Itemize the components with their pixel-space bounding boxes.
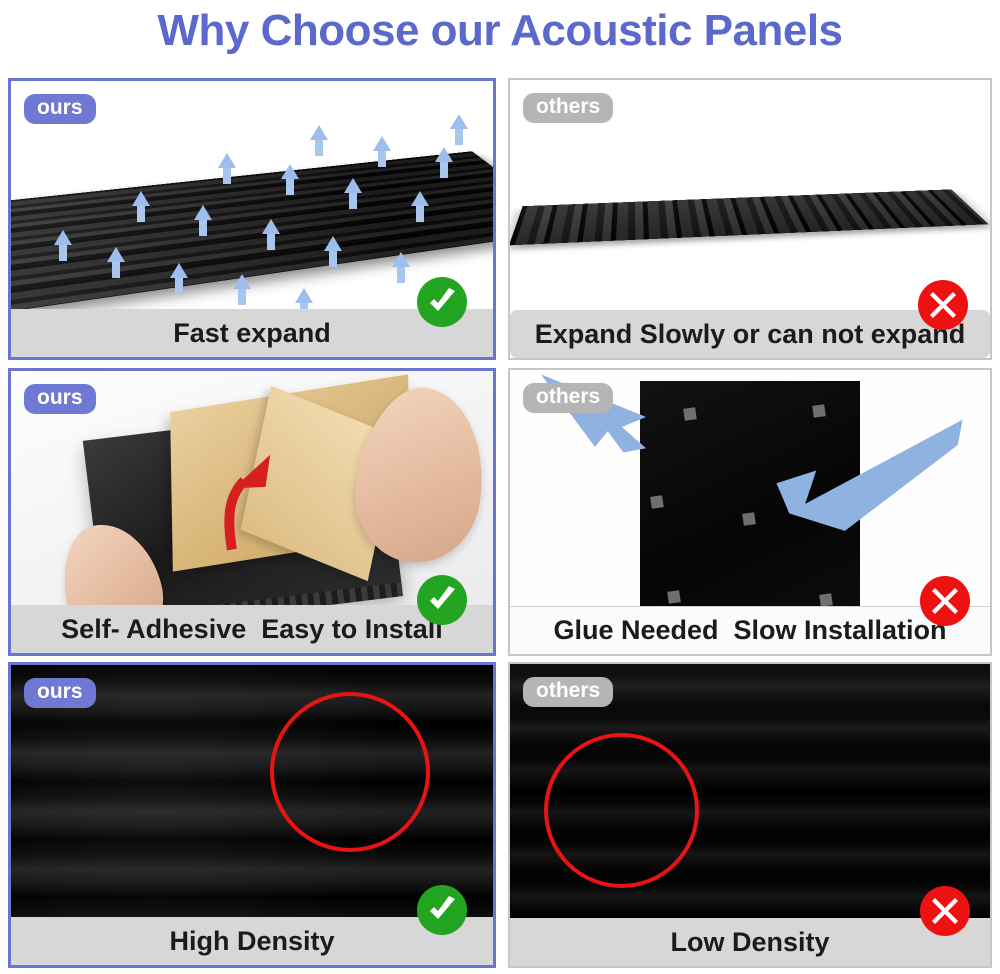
up-arrow-icon — [310, 125, 328, 140]
ours-panel-density: ours High Density — [8, 662, 496, 968]
up-arrow-icon — [281, 164, 299, 179]
caption-glue-needed: Glue Needed Slow Installation — [510, 606, 990, 654]
check-circle-icon — [417, 575, 467, 625]
comparison-grid: ours Fast expand others Expand Slowly or… — [0, 62, 1000, 974]
glue-pointer-arrow-icon — [736, 418, 986, 537]
glue-dab — [668, 590, 682, 604]
comparison-cell-installation-ours: ours Self- Adhesive Easy to Install — [0, 366, 500, 660]
caption-low-density: Low Density — [510, 918, 990, 966]
badge-ours: ours — [24, 384, 96, 414]
up-arrow-icon — [344, 178, 362, 193]
badge-others: others — [523, 677, 613, 707]
up-arrow-icon — [435, 147, 453, 162]
badge-ours: ours — [24, 678, 96, 708]
up-arrow-icon — [107, 247, 125, 262]
check-circle-icon — [417, 277, 467, 327]
page-title: Why Choose our Acoustic Panels — [0, 0, 1000, 62]
up-arrow-icon — [194, 205, 212, 220]
comparison-cell-density-others: others Low Density — [500, 660, 1000, 974]
up-arrow-icon — [170, 263, 188, 278]
up-arrow-icon — [218, 153, 236, 168]
glue-dab — [650, 495, 664, 509]
up-arrow-icon — [392, 252, 410, 267]
glue-dab — [819, 593, 833, 607]
badge-others: others — [523, 383, 613, 413]
others-panel-density: others Low Density — [508, 662, 992, 968]
ours-panel-expansion: ours Fast expand — [8, 78, 496, 360]
up-arrow-icon — [411, 191, 429, 206]
comparison-cell-expansion-others: others Expand Slowly or can not expand — [500, 62, 1000, 366]
up-arrow-icon — [450, 114, 468, 129]
highlight-circle — [270, 692, 430, 852]
others-panel-installation: others Glue Needed Slow Installation — [508, 368, 992, 656]
up-arrow-icon — [373, 136, 391, 151]
up-arrow-icon — [324, 236, 342, 251]
comparison-cell-expansion-ours: ours Fast expand — [0, 62, 500, 366]
up-arrow-icon — [262, 219, 280, 234]
highlight-circle — [544, 733, 699, 888]
peel-direction-arrow-icon — [185, 444, 291, 551]
check-circle-icon — [417, 885, 467, 935]
wedge-foam-panel-flat — [509, 190, 989, 246]
cross-circle-icon — [920, 576, 970, 626]
up-arrow-icon — [295, 288, 313, 303]
glue-dab — [812, 404, 826, 418]
up-arrow-icon — [132, 191, 150, 206]
ours-panel-installation: ours Self- Adhesive Easy to Install — [8, 368, 496, 656]
up-arrow-icon — [233, 274, 251, 289]
cross-circle-icon — [918, 280, 968, 330]
others-panel-expansion: others Expand Slowly or can not expand — [508, 78, 992, 360]
cross-circle-icon — [920, 886, 970, 936]
comparison-cell-installation-others: others Glue Needed Slow Installation — [500, 366, 1000, 660]
comparison-cell-density-ours: ours High Density — [0, 660, 500, 974]
badge-others: others — [523, 93, 613, 123]
badge-ours: ours — [24, 94, 96, 124]
up-arrow-icon — [54, 230, 72, 245]
